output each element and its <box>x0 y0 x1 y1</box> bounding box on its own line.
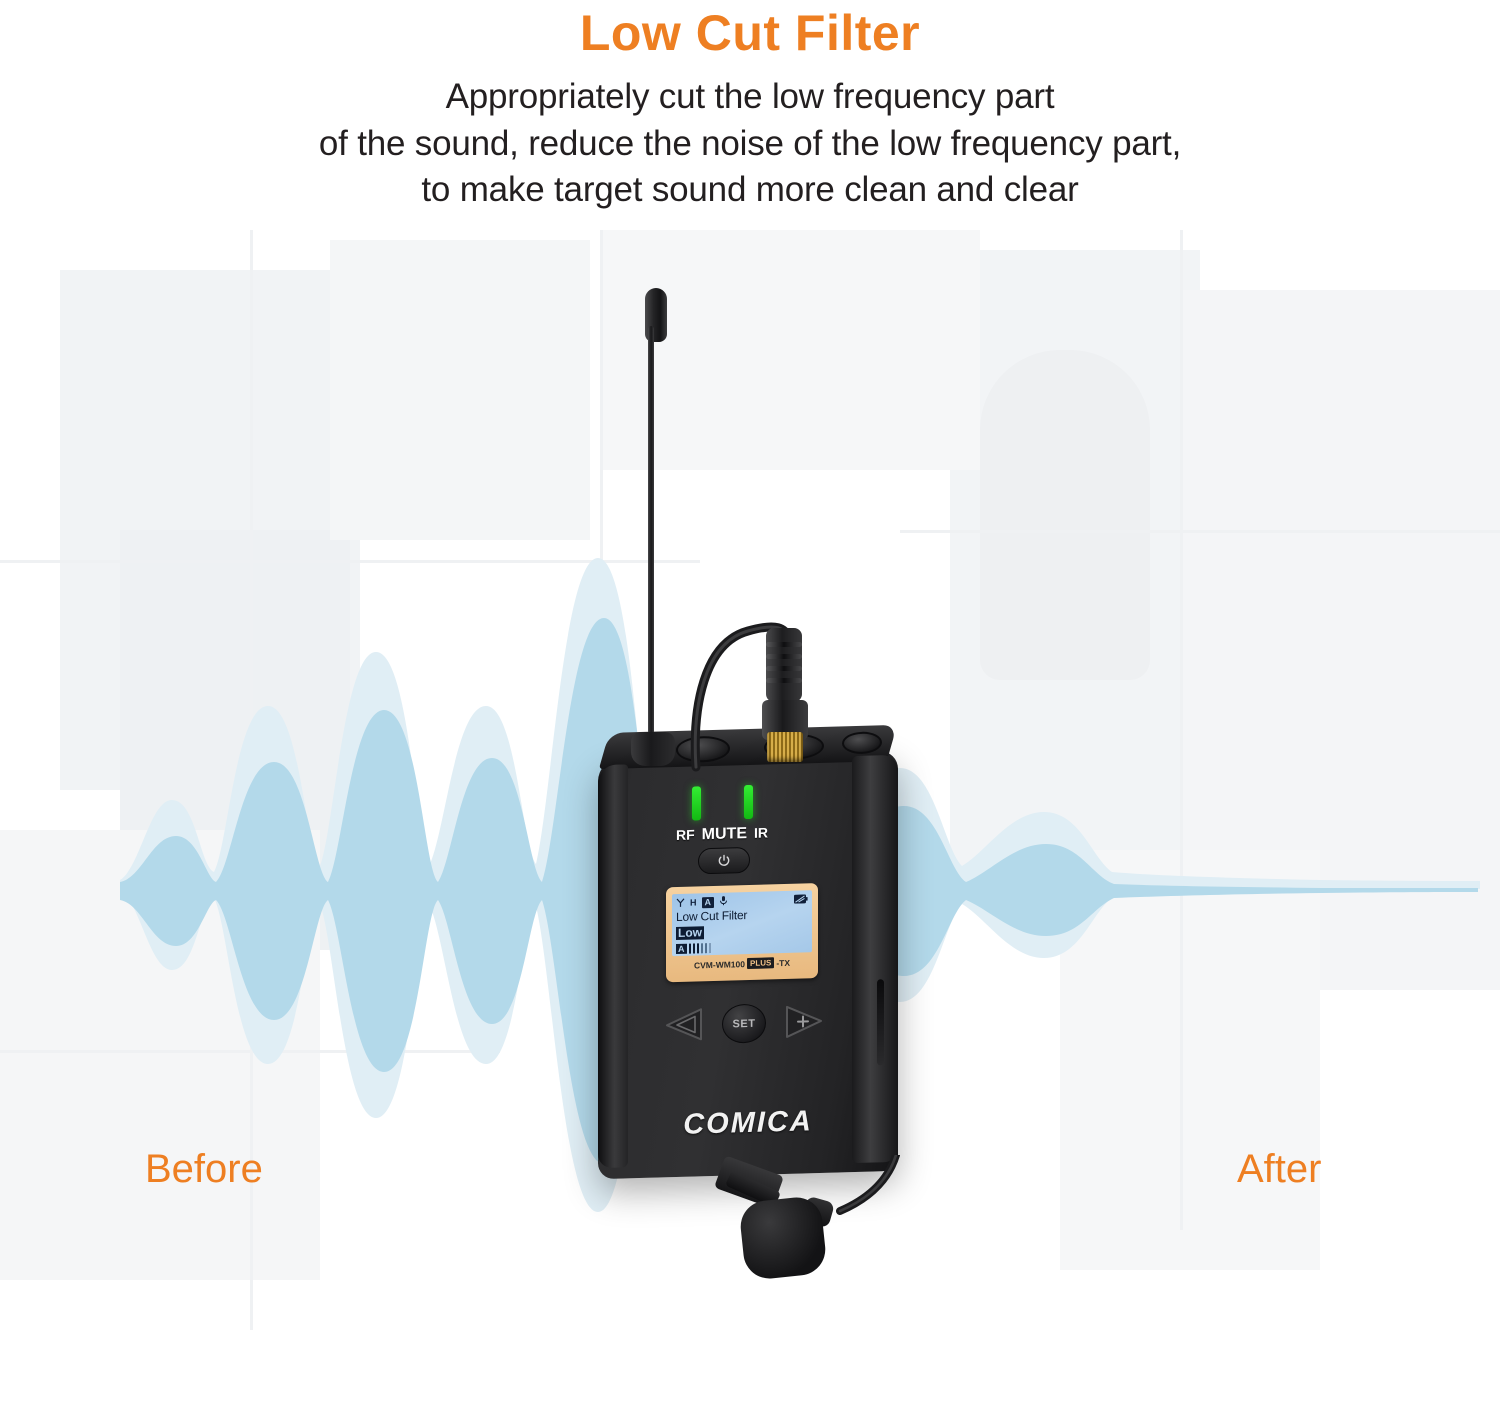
model-name: CVM-WM100 <box>694 959 745 970</box>
power-icon <box>717 853 731 867</box>
right-arrow-button[interactable] <box>782 1001 828 1042</box>
channel-badge: A <box>702 896 715 907</box>
before-label: Before <box>145 1147 263 1192</box>
subtitle-line-3: to make target sound more clean and clea… <box>0 167 1500 214</box>
left-arrow-button[interactable] <box>660 1004 706 1045</box>
page-title: Low Cut Filter <box>0 4 1500 62</box>
lcd-menu-title: Low Cut Filter <box>676 907 808 923</box>
header: Low Cut Filter Appropriately cut the low… <box>0 0 1500 214</box>
after-label: After <box>1237 1147 1321 1192</box>
transmitter-body: RF MUTE IR H A <box>598 751 898 1179</box>
mic-capsule <box>738 1195 828 1281</box>
model-plus-badge: PLUS <box>747 957 774 969</box>
model-suffix: -TX <box>776 957 790 967</box>
left-arrow-icon <box>661 1005 705 1044</box>
rf-label: RF <box>676 826 695 843</box>
ir-led-indicator <box>744 785 753 819</box>
set-button[interactable]: SET <box>722 1003 766 1043</box>
antenna-base <box>631 732 675 766</box>
signal-level: H <box>690 898 697 907</box>
page-subtitle: Appropriately cut the low frequency part… <box>0 74 1500 214</box>
subtitle-line-2: of the sound, reduce the noise of the lo… <box>0 121 1500 168</box>
antenna-rod <box>648 326 654 746</box>
signal-antenna-icon <box>676 898 685 908</box>
lavalier-microphone <box>700 1155 900 1305</box>
lcd-screen: H A <box>672 890 812 956</box>
rf-led-indicator <box>692 786 701 820</box>
connector-gold-thread <box>767 732 803 762</box>
side-slot <box>877 979 884 1065</box>
navigation-buttons: SET <box>660 1001 830 1050</box>
screw-lock-connector <box>762 628 808 770</box>
power-button[interactable] <box>698 847 750 874</box>
mute-label: MUTE <box>702 825 747 844</box>
meter-channel-label: A <box>676 944 687 954</box>
lcd-status-bar: H A <box>676 893 808 909</box>
battery-icon <box>794 894 808 905</box>
microphone-icon <box>719 896 728 908</box>
lcd-bezel: H A <box>666 883 818 982</box>
model-label: CVM-WM100 PLUS -TX <box>672 956 812 971</box>
ir-label: IR <box>754 824 768 840</box>
lcd-selected-value: Low <box>676 926 704 940</box>
antenna <box>645 288 656 760</box>
lcd-level-meter: A <box>676 943 711 954</box>
subtitle-line-1: Appropriately cut the low frequency part <box>0 74 1500 121</box>
connector-boot <box>766 628 802 702</box>
right-plus-arrow-icon <box>783 1002 827 1041</box>
